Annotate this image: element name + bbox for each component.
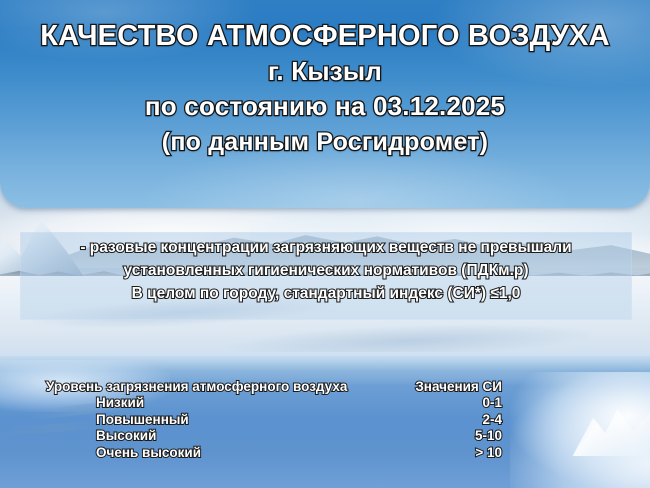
table-cell-value: 2-4 [442, 412, 606, 429]
summary-line-1: - разовые концентрации загрязняющих веще… [20, 236, 632, 259]
summary-text: - разовые концентрации загрязняющих веще… [20, 236, 632, 305]
table-row: Низкий 0-1 [46, 395, 606, 412]
table-header-value: Значения СИ [415, 378, 606, 395]
title-line-source: (по данным Росгидромет) [0, 124, 650, 160]
air-quality-poster: КАЧЕСТВО АТМОСФЕРНОГО ВОЗДУХА г. Кызыл п… [0, 0, 650, 488]
table-row: Очень высокий > 10 [46, 445, 606, 462]
table-cell-value: > 10 [442, 445, 606, 462]
summary-line-3: В целом по городу, стандартный индекс (С… [20, 282, 632, 305]
table-cell-value: 5-10 [442, 428, 606, 445]
table-header-level: Уровень загрязнения атмосферного воздуха [46, 378, 347, 395]
title-line-date: по состоянию на 03.12.2025 [0, 88, 650, 124]
title-line-main: КАЧЕСТВО АТМОСФЕРНОГО ВОЗДУХА [0, 18, 650, 54]
pollution-level-table: Уровень загрязнения атмосферного воздуха… [46, 378, 606, 461]
title-line-city: г. Кызыл [0, 54, 650, 88]
table-cell-level: Очень высокий [46, 445, 201, 462]
table-cell-level: Низкий [46, 395, 144, 412]
table-cell-level: Высокий [46, 428, 156, 445]
table-row: Высокий 5-10 [46, 428, 606, 445]
summary-line-2: установленных гигиенических нормативов (… [20, 259, 632, 282]
table-cell-level: Повышенный [46, 412, 189, 429]
poster-title: КАЧЕСТВО АТМОСФЕРНОГО ВОЗДУХА г. Кызыл п… [0, 18, 650, 160]
table-row: Повышенный 2-4 [46, 412, 606, 429]
table-header-row: Уровень загрязнения атмосферного воздуха… [46, 378, 606, 395]
table-cell-value: 0-1 [442, 395, 606, 412]
